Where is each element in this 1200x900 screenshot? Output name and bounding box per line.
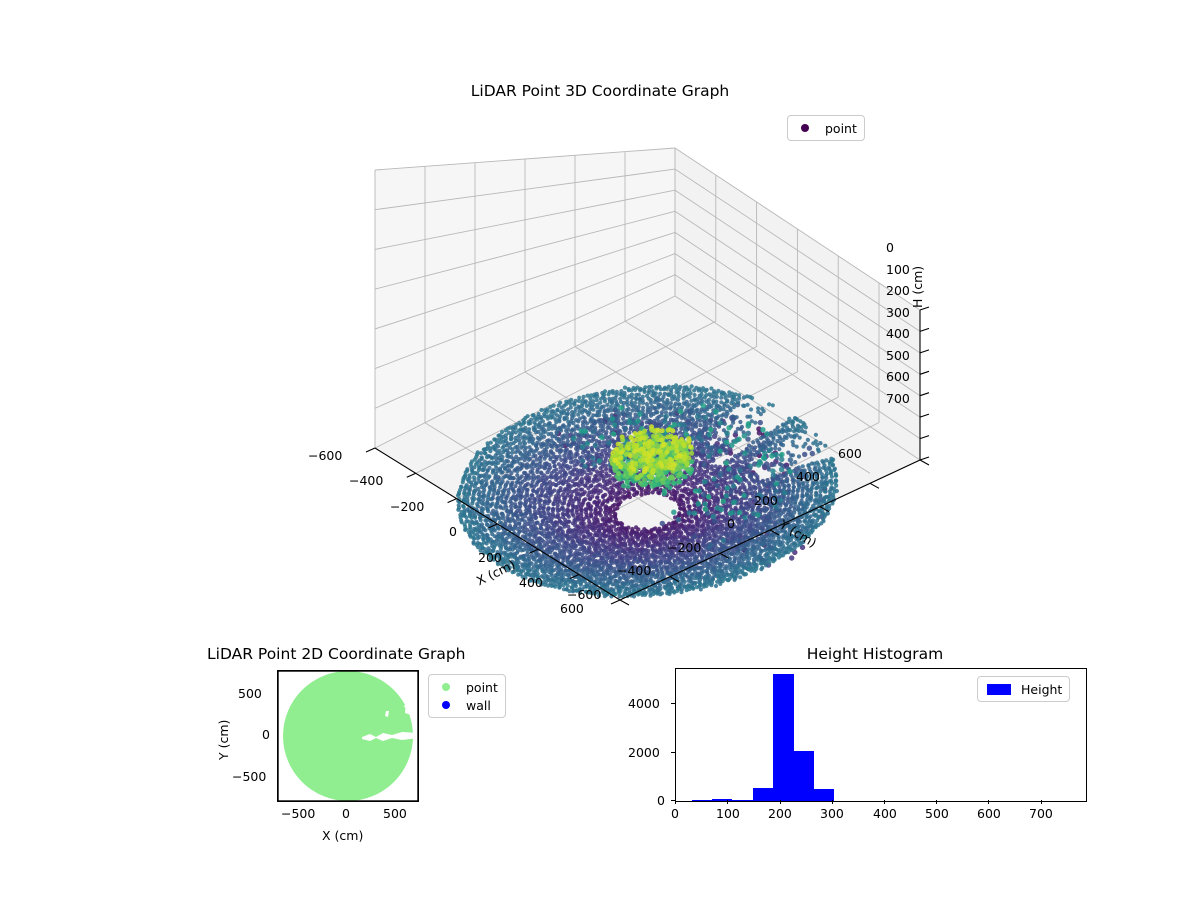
point-marker-icon bbox=[801, 124, 809, 132]
point-marker-icon bbox=[442, 683, 450, 691]
y2d-tick-2: −500 bbox=[232, 769, 266, 784]
point-disk bbox=[283, 671, 418, 801]
lidar-2d-axes[interactable] bbox=[277, 670, 419, 802]
xhist-tick-1: 100 bbox=[716, 806, 740, 821]
z3d-tick-3: 300 bbox=[886, 305, 910, 320]
xhist-tick-3: 300 bbox=[820, 806, 844, 821]
y2d-tick-mark-2 bbox=[277, 777, 278, 778]
x3d-tick-5: 400 bbox=[519, 575, 543, 590]
yhist-tick-0: 0 bbox=[657, 793, 665, 808]
legend-entry-point: point bbox=[795, 119, 857, 137]
plot3d-title: LiDAR Point 3D Coordinate Graph bbox=[0, 82, 1200, 100]
wall-marker-icon bbox=[442, 701, 450, 709]
yhist-tick-1: 2000 bbox=[628, 745, 660, 760]
height-bar-icon bbox=[987, 684, 1011, 695]
legend-label: point bbox=[466, 680, 498, 695]
x2d-tick-mark-0 bbox=[301, 801, 302, 802]
z3d-tick-5: 500 bbox=[886, 348, 910, 363]
x3d-tick-6: 600 bbox=[560, 601, 584, 616]
y2d-tick-0: 500 bbox=[238, 686, 262, 701]
yhist-tick-2: 4000 bbox=[628, 696, 660, 711]
plot2d-legend[interactable]: point wall bbox=[428, 674, 506, 718]
y3d-tick-2: 200 bbox=[754, 493, 778, 508]
y2d-tick-mark-0 bbox=[277, 694, 278, 695]
x3d-tick-1: −400 bbox=[349, 473, 383, 488]
legend-entry-wall: wall bbox=[436, 696, 498, 714]
z3d-tick-4: 400 bbox=[886, 326, 910, 341]
y3d-tick-5: −400 bbox=[617, 563, 651, 578]
xhist-tick-2: 200 bbox=[768, 806, 792, 821]
matplotlib-figure: LiDAR Point 3D Coordinate Graph bbox=[0, 0, 1200, 900]
xhist-tick-5: 500 bbox=[925, 806, 949, 821]
x2d-axis-label: X (cm) bbox=[322, 828, 363, 843]
histogram-title: Height Histogram bbox=[660, 645, 1090, 663]
plot3d-legend[interactable]: point bbox=[787, 115, 865, 141]
xhist-tick-4: 400 bbox=[873, 806, 897, 821]
histogram-bar bbox=[732, 800, 752, 801]
legend-label: point bbox=[825, 121, 857, 136]
x2d-tick-1: 0 bbox=[342, 806, 350, 821]
plot2d-title: LiDAR Point 2D Coordinate Graph bbox=[207, 645, 465, 663]
x2d-tick-0: −500 bbox=[281, 806, 315, 821]
legend-label: wall bbox=[466, 698, 491, 713]
xhist-tick-6: 600 bbox=[977, 806, 1001, 821]
xhist-tick-7: 700 bbox=[1029, 806, 1053, 821]
y3d-tick-0: 600 bbox=[838, 446, 862, 461]
y2d-tick-mark-1 bbox=[277, 735, 278, 736]
lidar-3d-axes[interactable]: −600 −400 −200 0 200 400 600 600 400 200… bbox=[330, 130, 950, 630]
y3d-tick-6: −600 bbox=[567, 587, 601, 602]
xhist-tick-0: 0 bbox=[671, 806, 679, 821]
z3d-tick-2: 200 bbox=[886, 283, 910, 298]
legend-entry-height: Height bbox=[985, 680, 1062, 698]
legend-entry-point: point bbox=[436, 678, 498, 696]
y3d-tick-1: 400 bbox=[796, 469, 820, 484]
z3d-tick-0: 0 bbox=[886, 240, 894, 255]
z3d-tick-7: 700 bbox=[886, 391, 910, 406]
y2d-tick-1: 0 bbox=[262, 727, 270, 742]
legend-label: Height bbox=[1021, 682, 1062, 697]
z3d-axis-label: H (cm) bbox=[910, 266, 925, 308]
x2d-tick-mark-2 bbox=[395, 801, 396, 802]
x2d-tick-mark-1 bbox=[348, 801, 349, 802]
y3d-tick-3: 0 bbox=[727, 516, 735, 531]
x3d-tick-2: −200 bbox=[390, 499, 424, 514]
y2d-axis-label: Y (cm) bbox=[216, 720, 231, 760]
y3d-tick-4: −200 bbox=[667, 540, 701, 555]
x2d-tick-2: 500 bbox=[383, 806, 407, 821]
histogram-legend[interactable]: Height bbox=[977, 676, 1070, 702]
x3d-tick-0: −600 bbox=[308, 448, 342, 463]
x3d-tick-3: 0 bbox=[449, 524, 457, 539]
z3d-tick-6: 600 bbox=[886, 369, 910, 384]
z3d-tick-1: 100 bbox=[886, 262, 910, 277]
